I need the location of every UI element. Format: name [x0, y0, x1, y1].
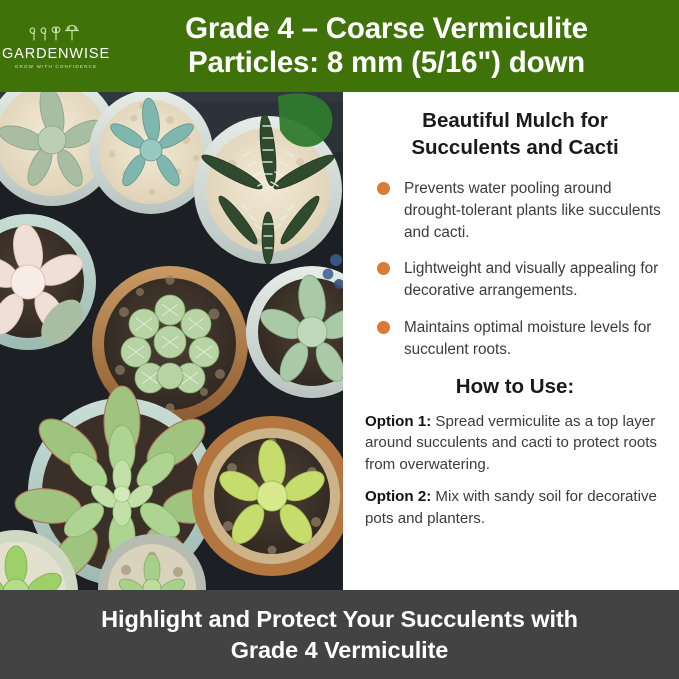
brand-tagline: GROW WITH CONFIDENCE — [15, 65, 97, 70]
panel-heading-line-2: Succulents and Cacti — [371, 135, 659, 162]
option-2-label: Option 2: — [365, 488, 431, 505]
bullet-dot-icon — [377, 182, 390, 195]
list-item: Maintains optimal moisture levels for su… — [365, 317, 665, 360]
brand-logo: GARDENWISE GROW WITH CONFIDENCE — [0, 22, 112, 70]
bullet-text: Prevents water pooling around drought-to… — [404, 178, 665, 243]
option-1: Option 1: Spread vermiculite as a top la… — [365, 411, 665, 475]
header-banner: GARDENWISE GROW WITH CONFIDENCE Grade 4 … — [0, 0, 679, 92]
brand-name: GARDENWISE — [2, 47, 110, 62]
option-2: Option 2: Mix with sandy soil for decora… — [365, 486, 665, 529]
bullet-dot-icon — [377, 321, 390, 334]
page-title-line-2: Particles: 8 mm (5/16") down — [112, 46, 661, 80]
product-photo — [0, 92, 343, 590]
how-to-use-heading: How to Use: — [365, 375, 665, 400]
page-title-line-1: Grade 4 – Coarse Vermiculite — [112, 12, 661, 46]
list-item: Prevents water pooling around drought-to… — [365, 178, 665, 243]
bullet-text: Maintains optimal moisture levels for su… — [404, 317, 665, 360]
footer-line-1: Highlight and Protect Your Succulents wi… — [101, 604, 578, 634]
product-infographic: GARDENWISE GROW WITH CONFIDENCE Grade 4 … — [0, 0, 679, 679]
footer-tagline: Highlight and Protect Your Succulents wi… — [71, 604, 608, 664]
panel-heading: Beautiful Mulch for Succulents and Cacti — [365, 108, 665, 161]
info-panel: Beautiful Mulch for Succulents and Cacti… — [343, 92, 679, 590]
list-item: Lightweight and visually appealing for d… — [365, 258, 665, 301]
succulents-photo-illustration — [0, 92, 343, 590]
benefits-list: Prevents water pooling around drought-to… — [365, 178, 665, 360]
bullet-text: Lightweight and visually appealing for d… — [404, 258, 665, 301]
bullet-dot-icon — [377, 262, 390, 275]
panel-heading-line-1: Beautiful Mulch for — [371, 108, 659, 135]
page-title: Grade 4 – Coarse Vermiculite Particles: … — [112, 12, 679, 80]
footer-line-2: Grade 4 Vermiculite — [101, 635, 578, 665]
sprouts-icon — [27, 24, 85, 46]
option-1-label: Option 1: — [365, 413, 431, 430]
footer-banner: Highlight and Protect Your Succulents wi… — [0, 590, 679, 679]
